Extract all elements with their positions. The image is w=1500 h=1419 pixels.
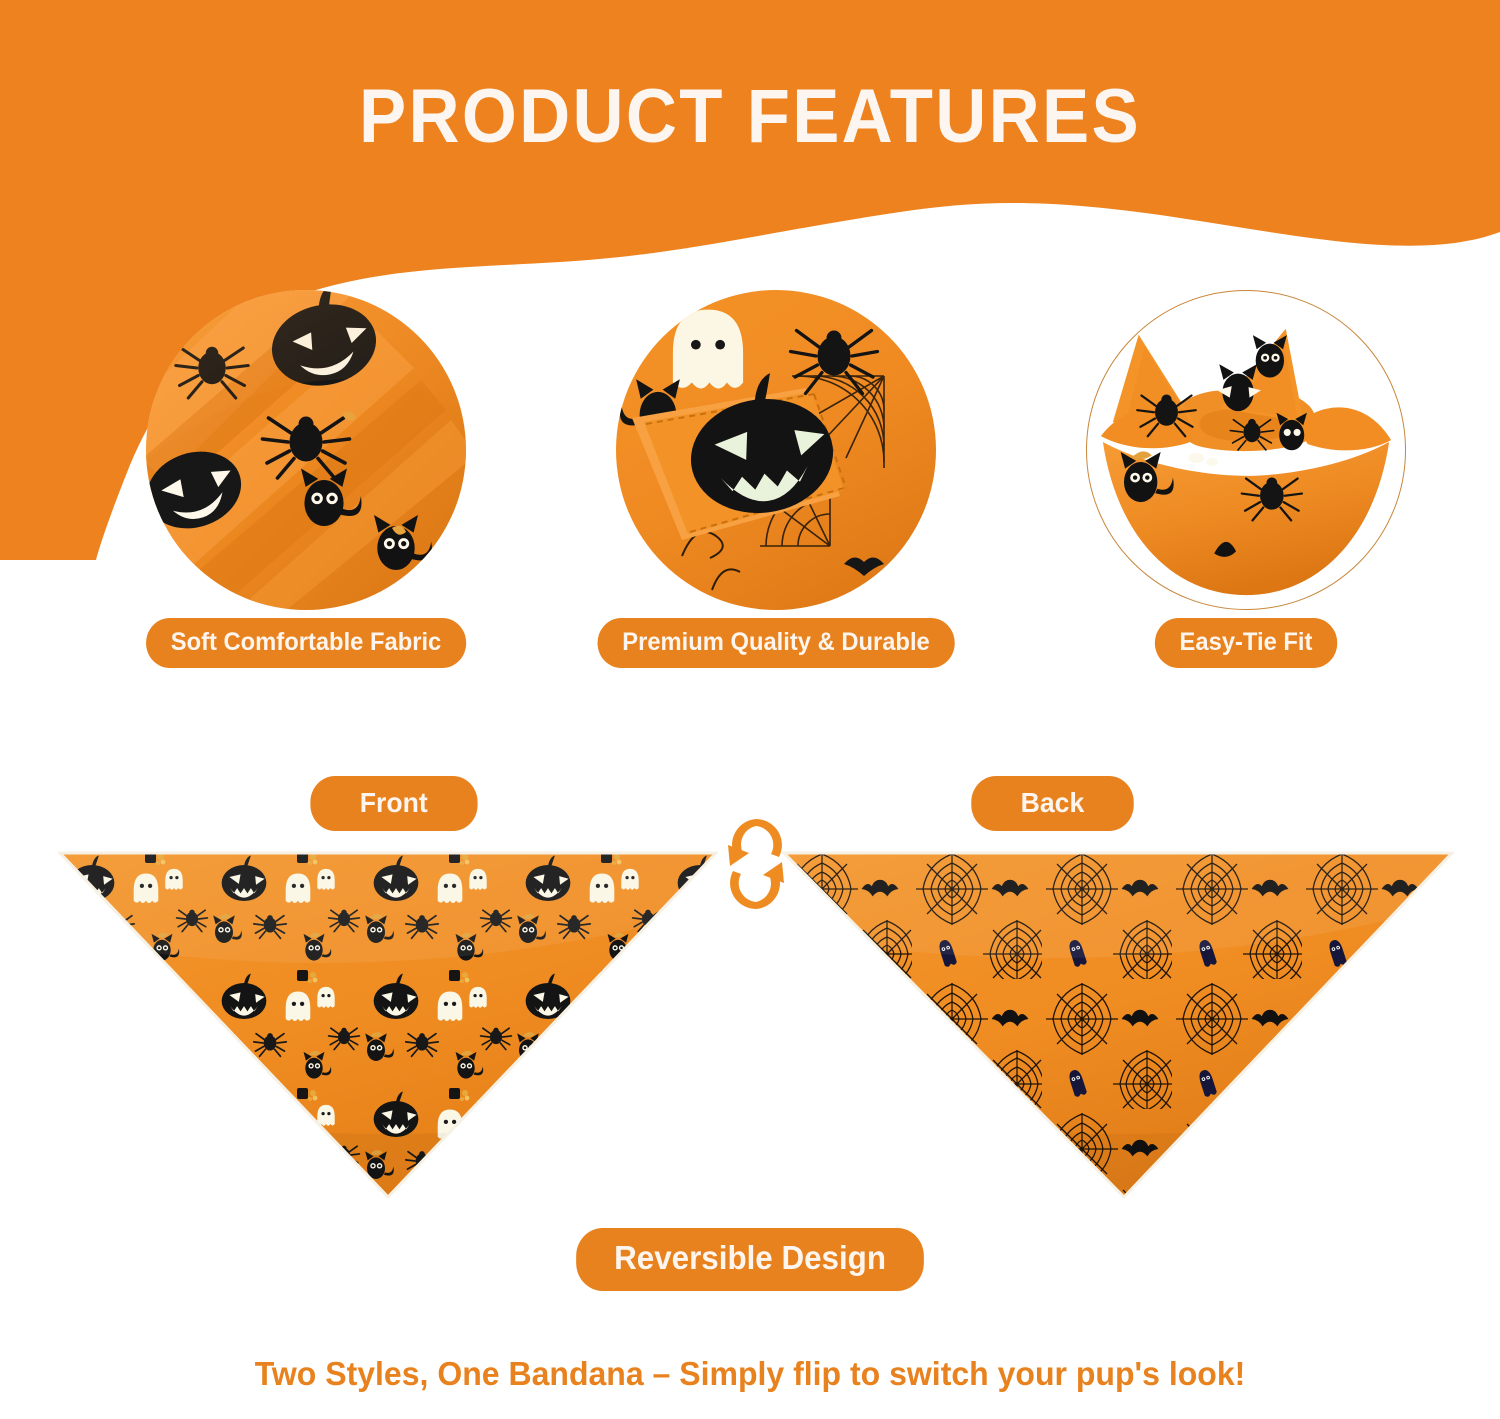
feature-badge-1: Soft Comfortable Fabric xyxy=(138,618,475,668)
infographic-page: PRODUCT FEATURES xyxy=(0,0,1500,1419)
feature-badge-2: Premium Quality & Durable xyxy=(588,618,964,668)
feature-badge-3: Easy-Tie Fit xyxy=(1150,618,1342,668)
feature-card-2: Premium Quality & Durable xyxy=(616,290,936,610)
page-title: PRODUCT FEATURES xyxy=(53,73,1448,160)
feature-label-3: Easy-Tie Fit xyxy=(1155,618,1337,668)
tagline-text: Two Styles, One Bandana – Simply flip to… xyxy=(23,1355,1478,1393)
back-badge: Back xyxy=(967,776,1138,831)
feature-image-tied-knot xyxy=(1086,290,1406,610)
feature-row: Soft Comfortable Fabric xyxy=(0,290,1500,670)
back-label: Back xyxy=(971,776,1133,831)
reversible-badge: Reversible Design xyxy=(0,1228,1500,1291)
bandana-back-image xyxy=(782,849,1454,1199)
reversible-label: Reversible Design xyxy=(576,1228,924,1291)
feature-image-folded-fabric xyxy=(146,290,466,610)
front-label: Front xyxy=(310,776,477,831)
feature-card-1: Soft Comfortable Fabric xyxy=(146,290,466,610)
feature-label-2: Premium Quality & Durable xyxy=(598,618,955,668)
feature-label-1: Soft Comfortable Fabric xyxy=(146,618,466,668)
feature-image-stitched-corner xyxy=(616,290,936,610)
bandana-front-image xyxy=(58,849,718,1199)
feature-card-3: Easy-Tie Fit xyxy=(1086,290,1406,610)
front-badge: Front xyxy=(306,776,482,831)
